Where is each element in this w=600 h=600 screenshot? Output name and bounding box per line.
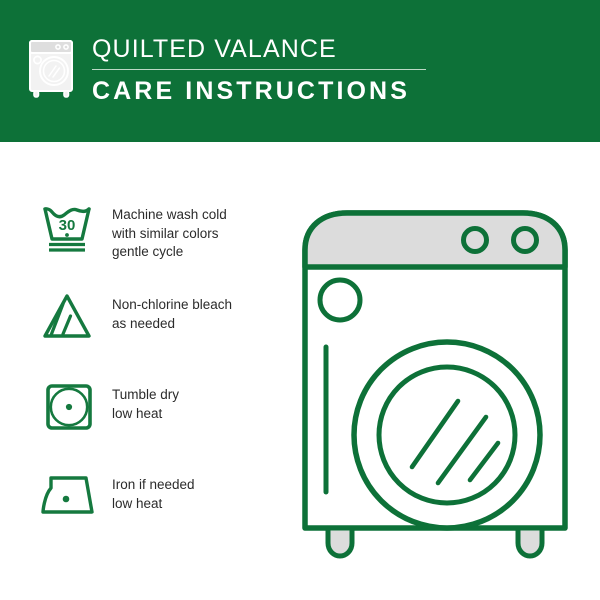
iron-icon	[39, 472, 101, 520]
tumble-dry-icon	[44, 382, 96, 432]
symbol-cell	[28, 376, 112, 432]
list-item: Tumble dry low heat	[28, 376, 278, 466]
list-item-label: Non-chlorine bleach as needed	[112, 286, 232, 333]
front-load-washing-machine-illustration	[290, 195, 580, 570]
symbol-cell	[28, 286, 112, 342]
header-band: QUILTED VALANCE CARE INSTRUCTIONS	[0, 0, 600, 142]
list-item-label: Tumble dry low heat	[112, 376, 179, 423]
header-title-block: QUILTED VALANCE CARE INSTRUCTIONS	[92, 34, 426, 106]
control-knob[interactable]	[464, 229, 487, 252]
list-item-label: Machine wash cold with similar colors ge…	[112, 196, 227, 262]
bleach-triangle-icon	[41, 292, 99, 342]
control-knob[interactable]	[514, 229, 537, 252]
list-item: Iron if needed low heat	[28, 466, 278, 556]
washing-machine-icon	[26, 37, 78, 99]
washer-leg	[328, 528, 352, 556]
list-item: 30 Machine wash cold with similar colors…	[28, 196, 278, 286]
washer-door[interactable]	[354, 342, 540, 528]
washer-leg	[518, 528, 542, 556]
wash-temperature-label: 30	[59, 217, 76, 234]
page-title: CARE INSTRUCTIONS	[92, 76, 426, 106]
title-divider	[92, 69, 426, 70]
list-item-label: Iron if needed low heat	[112, 466, 195, 513]
wash-tub-icon: 30	[41, 202, 99, 254]
symbol-cell: 30	[28, 196, 112, 254]
care-instruction-list: 30 Machine wash cold with similar colors…	[28, 196, 278, 556]
gentle-cycle-dot	[65, 233, 69, 237]
low-heat-dot	[63, 496, 70, 503]
detergent-dial[interactable]	[320, 280, 360, 320]
symbol-cell	[28, 466, 112, 520]
product-name: QUILTED VALANCE	[92, 34, 426, 64]
low-heat-dot	[66, 404, 72, 410]
list-item: Non-chlorine bleach as needed	[28, 286, 278, 376]
header-content: QUILTED VALANCE CARE INSTRUCTIONS	[26, 34, 426, 106]
care-instructions-page: QUILTED VALANCE CARE INSTRUCTIONS 30 Mac…	[0, 0, 600, 600]
